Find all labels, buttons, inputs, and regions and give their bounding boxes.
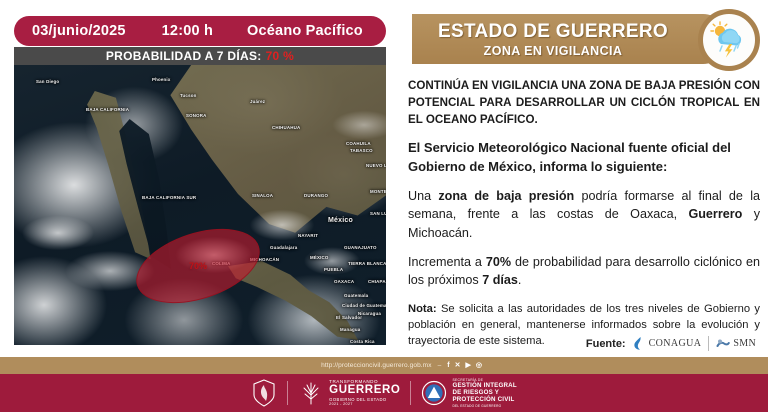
time-value: 12:00 h — [162, 23, 213, 39]
civil-protection-icon — [421, 380, 447, 406]
ellipse-probability-label: 70% — [189, 261, 207, 271]
source-divider — [708, 336, 709, 351]
advisory-body: CONTINÚA EN VIGILANCIA UNA ZONA DE BAJA … — [408, 78, 760, 360]
probability-label: PROBABILIDAD A 7 DÍAS: — [106, 49, 262, 63]
storm-weather-icon — [698, 9, 760, 71]
proteccion-civil-logo: SECRETARÍA DE GESTIÓN INTEGRAL DE RIESGO… — [421, 378, 516, 409]
map-label: CHIHUAHUA — [272, 125, 300, 130]
source-label: Fuente: — [586, 338, 626, 350]
map-label: SAN LUIS POTOSÍ — [370, 211, 386, 216]
url-separator: – — [438, 362, 442, 369]
logo-divider-1 — [287, 381, 288, 405]
lp-term: zona de baja presión — [438, 189, 574, 203]
secretaria-line2: GESTIÓN INTEGRAL — [452, 382, 516, 389]
map-label: GUANAJUATO — [344, 245, 377, 250]
prob-days: 7 días — [482, 273, 518, 287]
conagua-droplet-icon — [633, 336, 646, 351]
logo-divider-2 — [410, 381, 411, 405]
map-label: Costa Rica — [350, 339, 375, 344]
probability-value: 70 % — [266, 49, 295, 63]
footer-logo-bar: TRANSFORMANDO GUERRERO GOBIERNO DEL ESTA… — [0, 374, 768, 412]
probability-paragraph: Incrementa a 70% de probabilidad para de… — [408, 253, 760, 290]
organization-paragraph: El Servicio Meteorológico Nacional fuent… — [408, 139, 760, 175]
conagua-logo: CONAGUA — [633, 336, 702, 351]
lp-text-a: Una — [408, 189, 438, 203]
secretaria-line5: DEL ESTADO DE GUERRERO — [452, 405, 516, 409]
map-label: SONORA — [186, 113, 206, 118]
map-label: NUEVO LEÓN — [366, 163, 386, 168]
tree-emblem-icon — [298, 380, 324, 406]
map-label: Phoenix — [152, 77, 170, 82]
map-label: DURANGO — [304, 193, 328, 198]
satellite-map[interactable]: San DiegoPhoenixTucsonJuárezBAJA CALIFOR… — [14, 65, 386, 345]
prob-text-e: . — [518, 273, 522, 287]
social-icons[interactable]: f ✕ ▶ ◎ — [447, 362, 482, 369]
conagua-text: CONAGUA — [649, 338, 702, 349]
facebook-icon[interactable]: f — [447, 362, 449, 369]
map-label: Nicaragua — [358, 311, 381, 316]
map-label: CHIAPAS — [368, 279, 386, 284]
map-label: BAJA CALIFORNIA SUR — [142, 195, 196, 200]
instagram-icon[interactable]: ◎ — [476, 362, 482, 369]
x-icon[interactable]: ✕ — [455, 362, 461, 369]
map-label: Guadalajara — [270, 245, 297, 250]
probability-bar: PROBABILIDAD A 7 DÍAS: 70 % — [14, 47, 386, 65]
map-label: San Diego — [36, 79, 59, 84]
lp-state: Guerrero — [688, 207, 742, 221]
map-label: BAJA CALIFORNIA — [86, 107, 129, 112]
satellite-image: San DiegoPhoenixTucsonJuárezBAJA CALIFOR… — [14, 65, 386, 345]
date-value: 03/junio/2025 — [32, 23, 126, 39]
map-label: Guatemala — [344, 293, 368, 298]
map-panel: 03/junio/2025 12:00 h Océano Pacífico PR… — [0, 0, 400, 412]
map-label: Tucson — [180, 93, 197, 98]
advisory-header: ESTADO DE GUERRERO ZONA EN VIGILANCIA — [412, 14, 728, 64]
advisory-infographic: 03/junio/2025 12:00 h Océano Pacífico PR… — [0, 0, 768, 412]
map-label: Juárez — [250, 99, 265, 104]
map-label: TABASCO — [350, 148, 373, 153]
smn-text: SMN — [733, 338, 756, 349]
prob-percent: 70% — [486, 255, 511, 269]
map-label: COAHUILA — [346, 141, 371, 146]
note-label: Nota: — [408, 303, 437, 315]
map-label: OAXACA — [334, 279, 354, 284]
smn-logo: SMN — [716, 337, 756, 351]
smn-emblem-icon — [716, 337, 730, 351]
url-bar: http://proteccioncivil.guerrero.gob.mx –… — [0, 357, 768, 374]
secretaria-line4: PROTECCIÓN CIVIL — [452, 396, 516, 403]
status-badge: ZONA EN VIGILANCIA — [484, 44, 623, 58]
advisory-panel: ESTADO DE GUERRERO ZONA EN VIGILANCIA — [400, 0, 768, 412]
lead-paragraph: CONTINÚA EN VIGILANCIA UNA ZONA DE BAJA … — [408, 78, 760, 128]
map-label: NAYARIT — [298, 233, 318, 238]
guerrero-state-seal — [251, 378, 277, 408]
low-pressure-paragraph: Una zona de baja presión podría formarse… — [408, 187, 760, 242]
map-label: MÉXICO — [310, 255, 329, 260]
map-label: MONTERREY — [370, 189, 386, 194]
page-title: ESTADO DE GUERRERO — [438, 21, 668, 43]
map-label: TIERRA BLANCA — [348, 261, 386, 266]
prob-text-a: Incrementa a — [408, 255, 486, 269]
guerrero-label: GUERRERO — [329, 385, 400, 397]
map-label: PUEBLA — [324, 267, 343, 272]
zone-value: Océano Pacífico — [247, 23, 363, 39]
map-label: México — [328, 217, 353, 224]
period-label: 2021 - 2027 — [329, 403, 400, 407]
map-label: Managua — [340, 327, 360, 332]
youtube-icon[interactable]: ▶ — [466, 362, 471, 369]
website-url[interactable]: http://proteccioncivil.guerrero.gob.mx — [321, 362, 431, 369]
source-row: Fuente: CONAGUA SMN — [586, 336, 756, 351]
date-banner: 03/junio/2025 12:00 h Océano Pacífico — [14, 16, 386, 46]
map-label: Ciudad de Guatemala — [342, 303, 386, 308]
map-label: SINALOA — [252, 193, 273, 198]
transformando-guerrero-logo: TRANSFORMANDO GUERRERO GOBIERNO DEL ESTA… — [298, 380, 400, 407]
